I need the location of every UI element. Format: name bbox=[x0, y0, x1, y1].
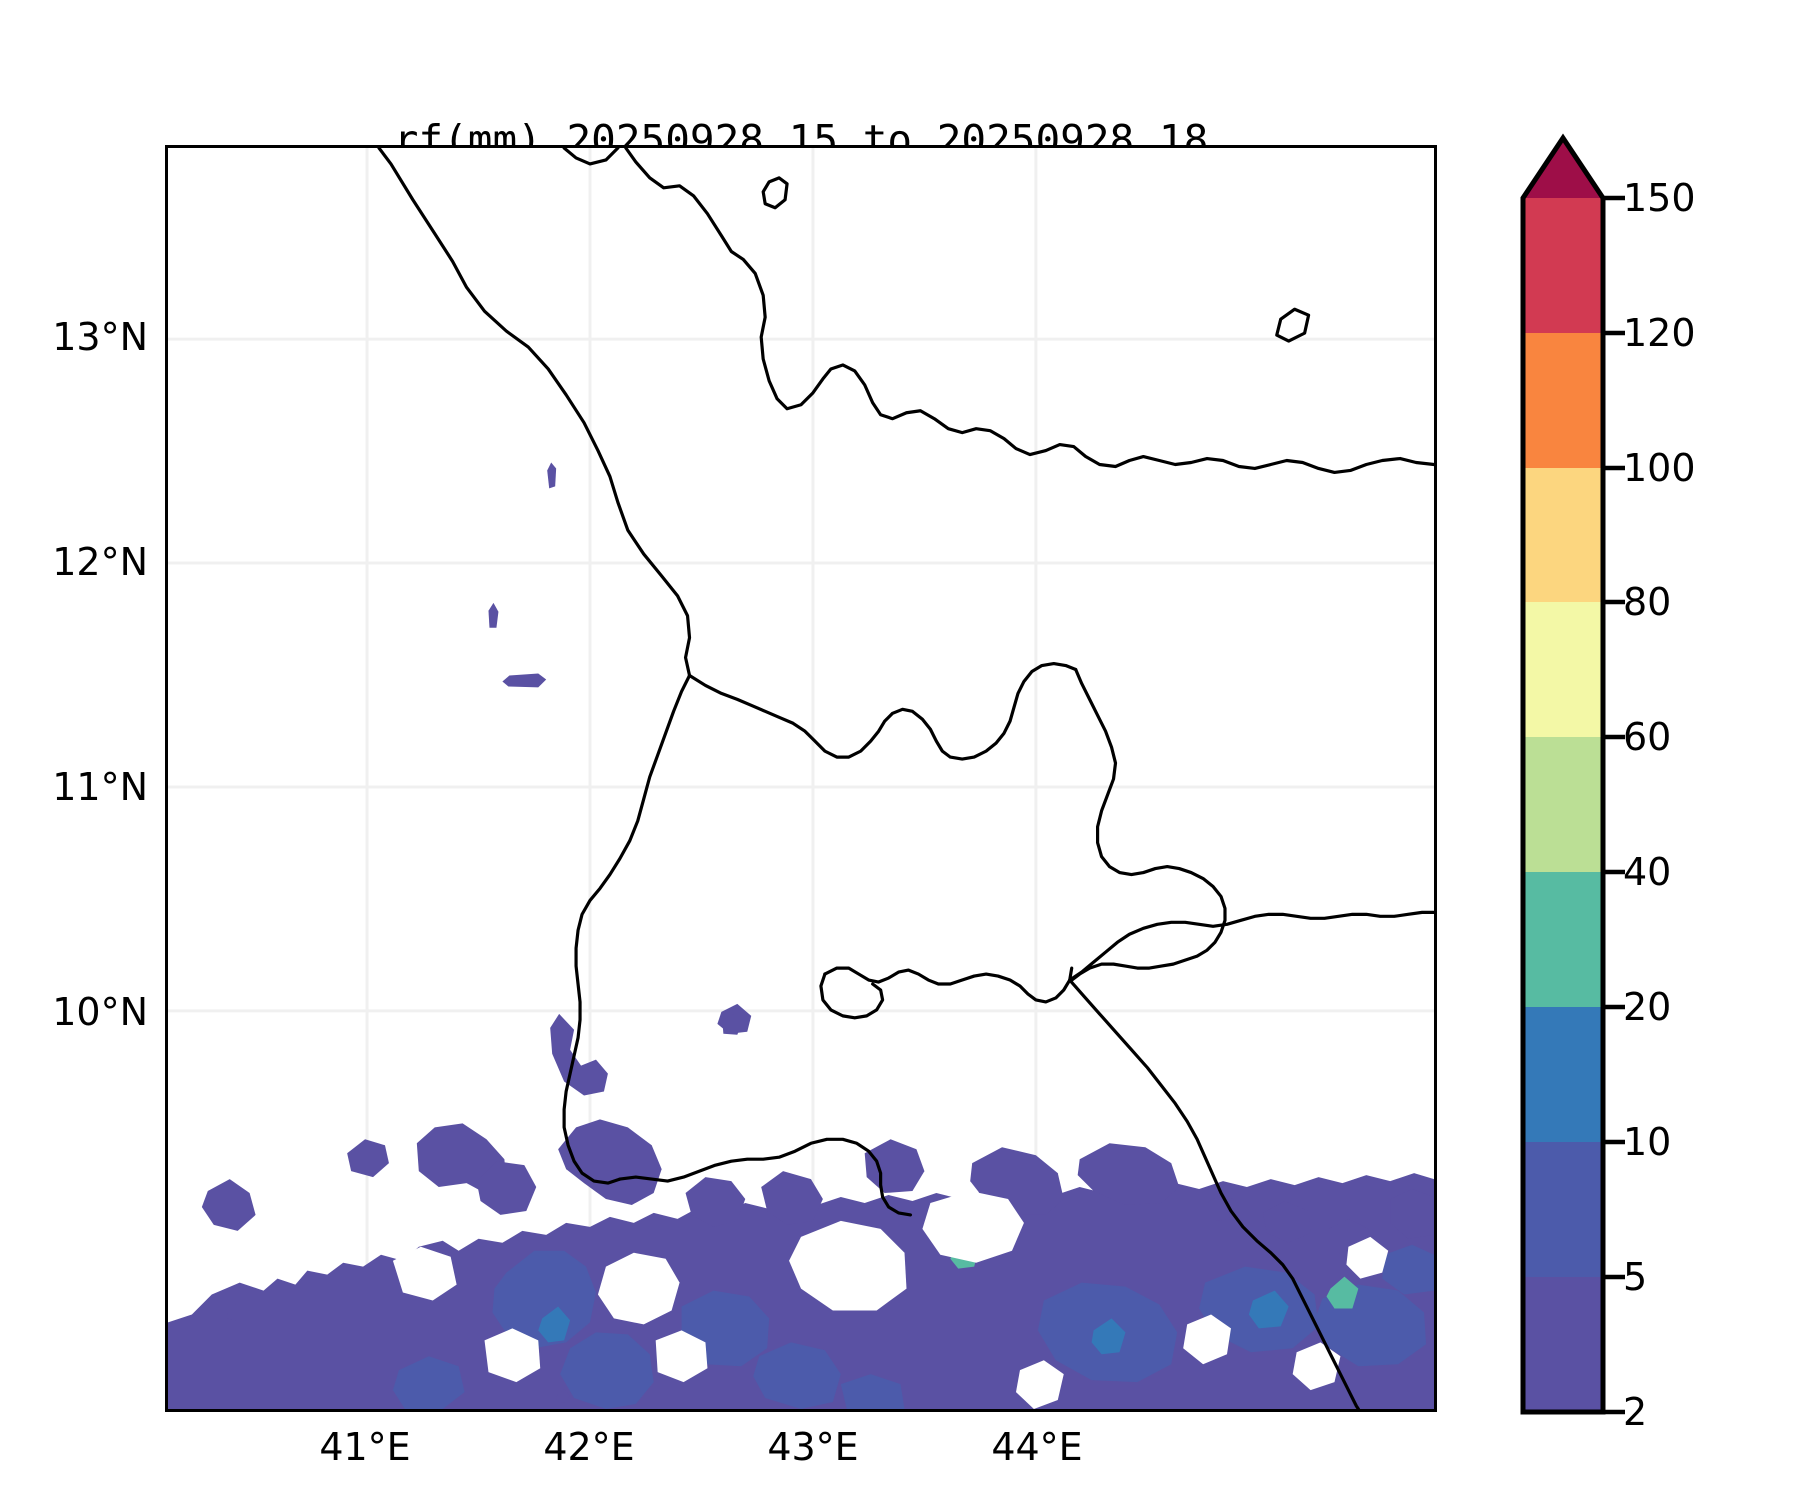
colorbar[interactable]: 150 120 100 80 60 40 20 10 5 2 bbox=[1515, 130, 1800, 1420]
cbar-band-100-120 bbox=[1523, 333, 1603, 468]
cbar-tick-120: 120 bbox=[1623, 311, 1696, 355]
cbar-tick-80: 80 bbox=[1623, 580, 1671, 624]
map-plot-area[interactable] bbox=[165, 145, 1437, 1412]
ytick-label-10N: 10°N bbox=[18, 990, 148, 1034]
cbar-band-20-40 bbox=[1523, 872, 1603, 1007]
cbar-band-5-10 bbox=[1523, 1142, 1603, 1277]
xtick-label-41E: 41°E bbox=[265, 1425, 465, 1469]
figure-canvas: rf(mm) 20250928_15 to 20250928_18 Simula… bbox=[0, 0, 1800, 1500]
xtick-label-44E: 44°E bbox=[937, 1425, 1137, 1469]
ytick-label-13N: 13°N bbox=[18, 315, 148, 359]
colorbar-ticks bbox=[1603, 198, 1625, 1412]
cbar-tick-10: 10 bbox=[1623, 1120, 1671, 1164]
cbar-band-60-80 bbox=[1523, 602, 1603, 737]
cbar-band-2-5 bbox=[1523, 1277, 1603, 1412]
ytick-label-11N: 11°N bbox=[18, 765, 148, 809]
cbar-band-40-60 bbox=[1523, 737, 1603, 872]
cbar-tick-40: 40 bbox=[1623, 850, 1671, 894]
cbar-tick-5: 5 bbox=[1623, 1255, 1647, 1299]
cbar-tick-60: 60 bbox=[1623, 715, 1671, 759]
cbar-tick-100: 100 bbox=[1623, 446, 1696, 490]
xtick-label-42E: 42°E bbox=[489, 1425, 689, 1469]
colorbar-bands bbox=[1523, 138, 1603, 1412]
cbar-tick-2: 2 bbox=[1623, 1390, 1647, 1434]
map-graphics bbox=[168, 148, 1434, 1409]
cbar-band-80-100 bbox=[1523, 468, 1603, 602]
ytick-label-12N: 12°N bbox=[18, 540, 148, 584]
cbar-extend-arrow-over bbox=[1523, 138, 1603, 198]
cbar-tick-20: 20 bbox=[1623, 985, 1671, 1029]
cbar-tick-150: 150 bbox=[1623, 176, 1696, 220]
cbar-band-10-20 bbox=[1523, 1007, 1603, 1142]
cbar-band-120-150 bbox=[1523, 198, 1603, 333]
xtick-label-43E: 43°E bbox=[713, 1425, 913, 1469]
rainfall-contours bbox=[168, 463, 1434, 1409]
